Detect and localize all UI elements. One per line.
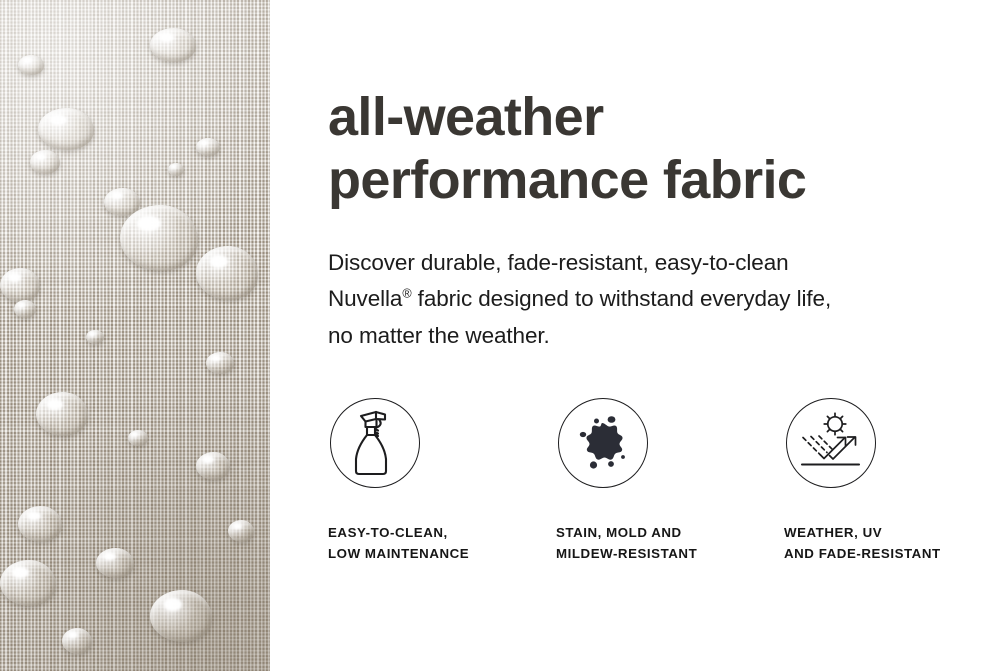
water-droplet bbox=[196, 452, 230, 480]
water-droplet bbox=[18, 55, 44, 75]
water-droplet bbox=[128, 430, 148, 446]
feature-list: EASY-TO-CLEAN, LOW MAINTENANCE STAIN, M bbox=[328, 398, 988, 564]
water-droplet bbox=[96, 548, 134, 578]
water-droplet bbox=[36, 392, 88, 436]
water-droplet bbox=[18, 506, 62, 542]
promo-banner: all-weather performance fabric Discover … bbox=[0, 0, 1005, 671]
water-droplet bbox=[38, 108, 94, 150]
subcopy-line-3: no matter the weather. bbox=[328, 323, 550, 348]
water-droplet bbox=[150, 590, 212, 642]
subcopy-line-1: Discover durable, fade-resistant, easy-t… bbox=[328, 250, 789, 275]
feature-item-easy-to-clean: EASY-TO-CLEAN, LOW MAINTENANCE bbox=[328, 398, 556, 564]
registered-trademark-icon: ® bbox=[402, 287, 411, 301]
brand-name: Nuvella bbox=[328, 286, 402, 311]
subcopy-line-2: fabric designed to withstand everyday li… bbox=[412, 286, 832, 311]
page-title: all-weather performance fabric bbox=[328, 86, 806, 211]
stain-splatter-icon bbox=[558, 398, 648, 488]
feature-caption: WEATHER, UV AND FADE-RESISTANT bbox=[784, 522, 941, 564]
water-droplet bbox=[206, 352, 234, 374]
water-droplet bbox=[0, 268, 40, 302]
water-droplet bbox=[150, 28, 196, 62]
fabric-photo bbox=[0, 0, 270, 671]
banner-content: all-weather performance fabric Discover … bbox=[328, 0, 988, 671]
feature-item-uv-fade-resistant: WEATHER, UV AND FADE-RESISTANT bbox=[784, 398, 988, 564]
water-droplet bbox=[168, 163, 184, 176]
water-droplet bbox=[196, 138, 220, 156]
feature-caption: STAIN, MOLD AND MILDEW-RESISTANT bbox=[556, 522, 697, 564]
water-droplet bbox=[30, 150, 60, 174]
feature-item-stain-resistant: STAIN, MOLD AND MILDEW-RESISTANT bbox=[556, 398, 784, 564]
water-droplet bbox=[120, 205, 198, 271]
water-droplet bbox=[196, 246, 258, 300]
water-droplet bbox=[0, 560, 56, 606]
sun-uv-reflect-icon bbox=[786, 398, 876, 488]
subcopy: Discover durable, fade-resistant, easy-t… bbox=[328, 245, 968, 354]
spray-bottle-icon bbox=[330, 398, 420, 488]
water-droplet bbox=[86, 330, 104, 344]
water-droplet bbox=[228, 520, 254, 542]
water-droplet bbox=[62, 628, 92, 654]
water-droplet bbox=[14, 300, 36, 318]
feature-caption: EASY-TO-CLEAN, LOW MAINTENANCE bbox=[328, 522, 469, 564]
